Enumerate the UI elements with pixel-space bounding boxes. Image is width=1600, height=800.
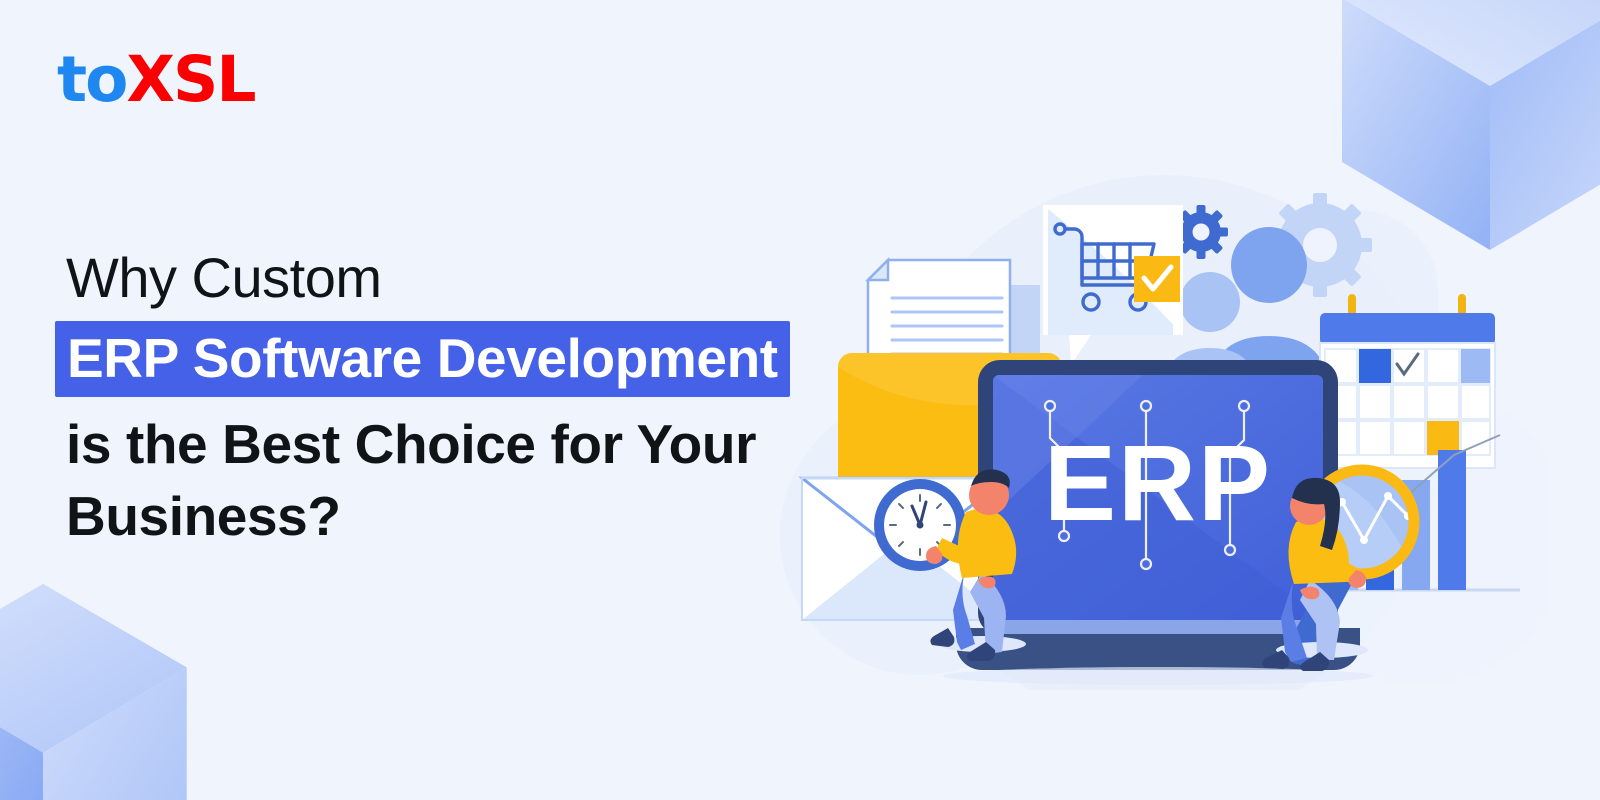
decorative-cube-bottom-left: [0, 580, 210, 800]
headline-highlight-row: ERP Software Development: [55, 321, 826, 397]
headline-line-3: is the Best Choice for Your: [66, 405, 826, 477]
logo-text-to: to: [57, 43, 126, 116]
erp-illustration: ERP: [760, 150, 1550, 690]
calendar: [1320, 294, 1495, 468]
headline-highlighted-phrase: ERP Software Development: [55, 321, 790, 397]
calendar-highlight-day: [1427, 421, 1459, 455]
cart-checkmark-badge: [1134, 256, 1180, 302]
logo-text-xsl: XSL: [126, 43, 254, 116]
headline-line-4: Business?: [66, 477, 826, 549]
laptop-screen-label: ERP: [1044, 422, 1272, 543]
logo-toxsl[interactable]: toXSL: [57, 48, 255, 111]
headline: Why Custom ERP Software Development is t…: [66, 245, 826, 549]
headline-line-1: Why Custom: [66, 245, 826, 317]
hero-banner: toXSL Why Custom ERP Software Developmen…: [0, 0, 1600, 800]
